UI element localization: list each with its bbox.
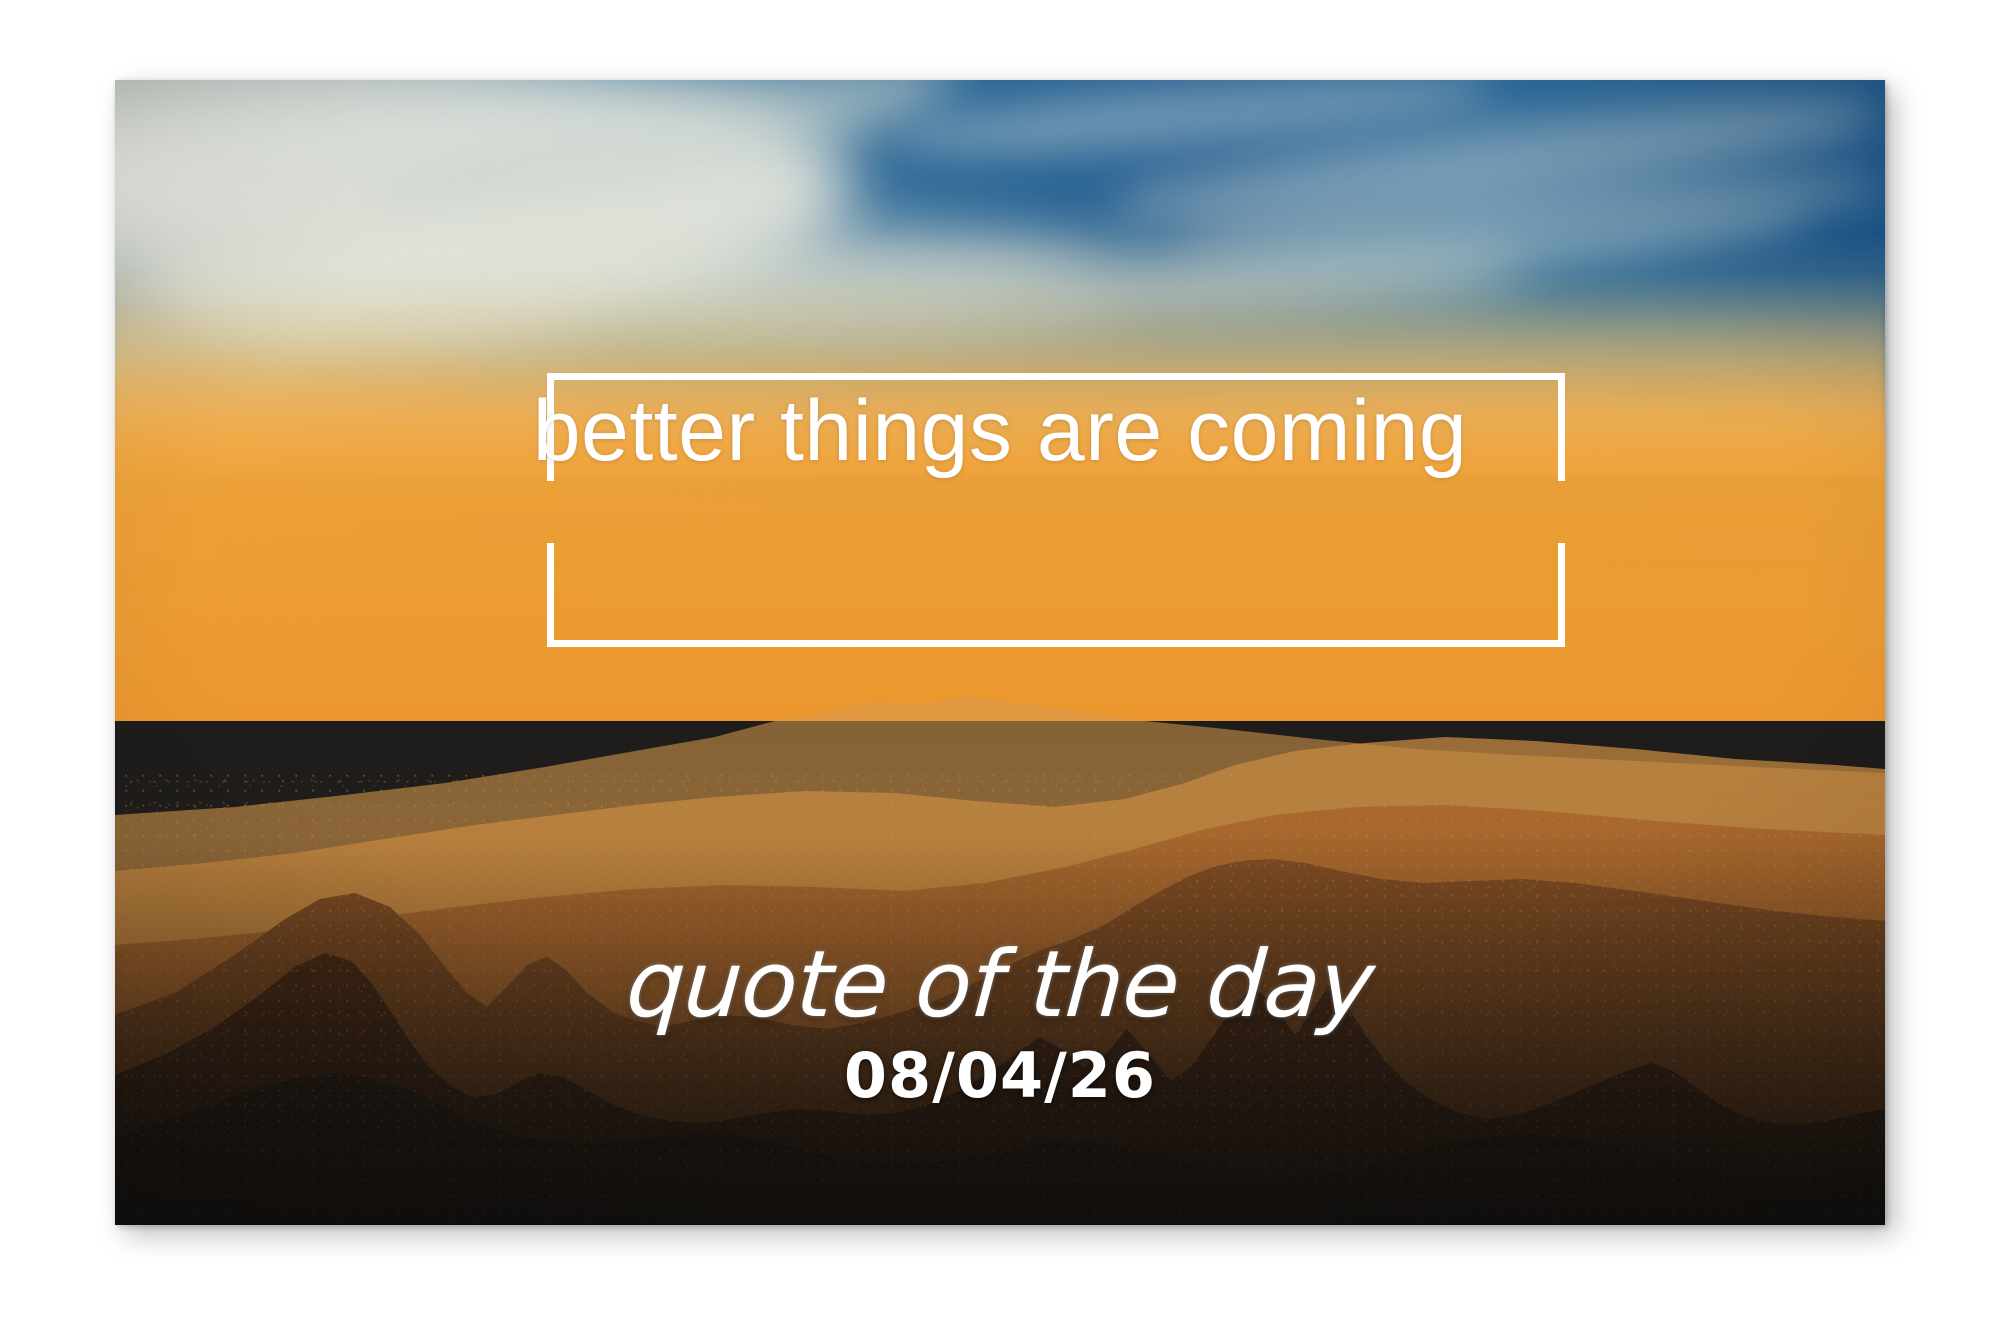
cloud-wisp-icon [892,80,1497,170]
cloud-wisp-icon [1176,158,1885,265]
mountain-silhouettes [115,515,1885,1225]
cloud-wisp-icon [360,80,967,256]
quote-of-the-day-label: quote of the day [115,939,1885,1031]
date-label: 08/04/26 [115,1045,1885,1107]
headline-frame-block: better things are coming [435,295,1565,567]
caption-block: quote of the day 08/04/26 [115,939,1885,1107]
headline-text: better things are coming [435,388,1565,474]
quote-poster-card: better things are coming quote of the da… [115,80,1885,1225]
poster-page: better things are coming quote of the da… [0,0,2000,1340]
cloud-wisp-icon [115,80,823,285]
cloud-wisp-icon [1105,80,1885,243]
